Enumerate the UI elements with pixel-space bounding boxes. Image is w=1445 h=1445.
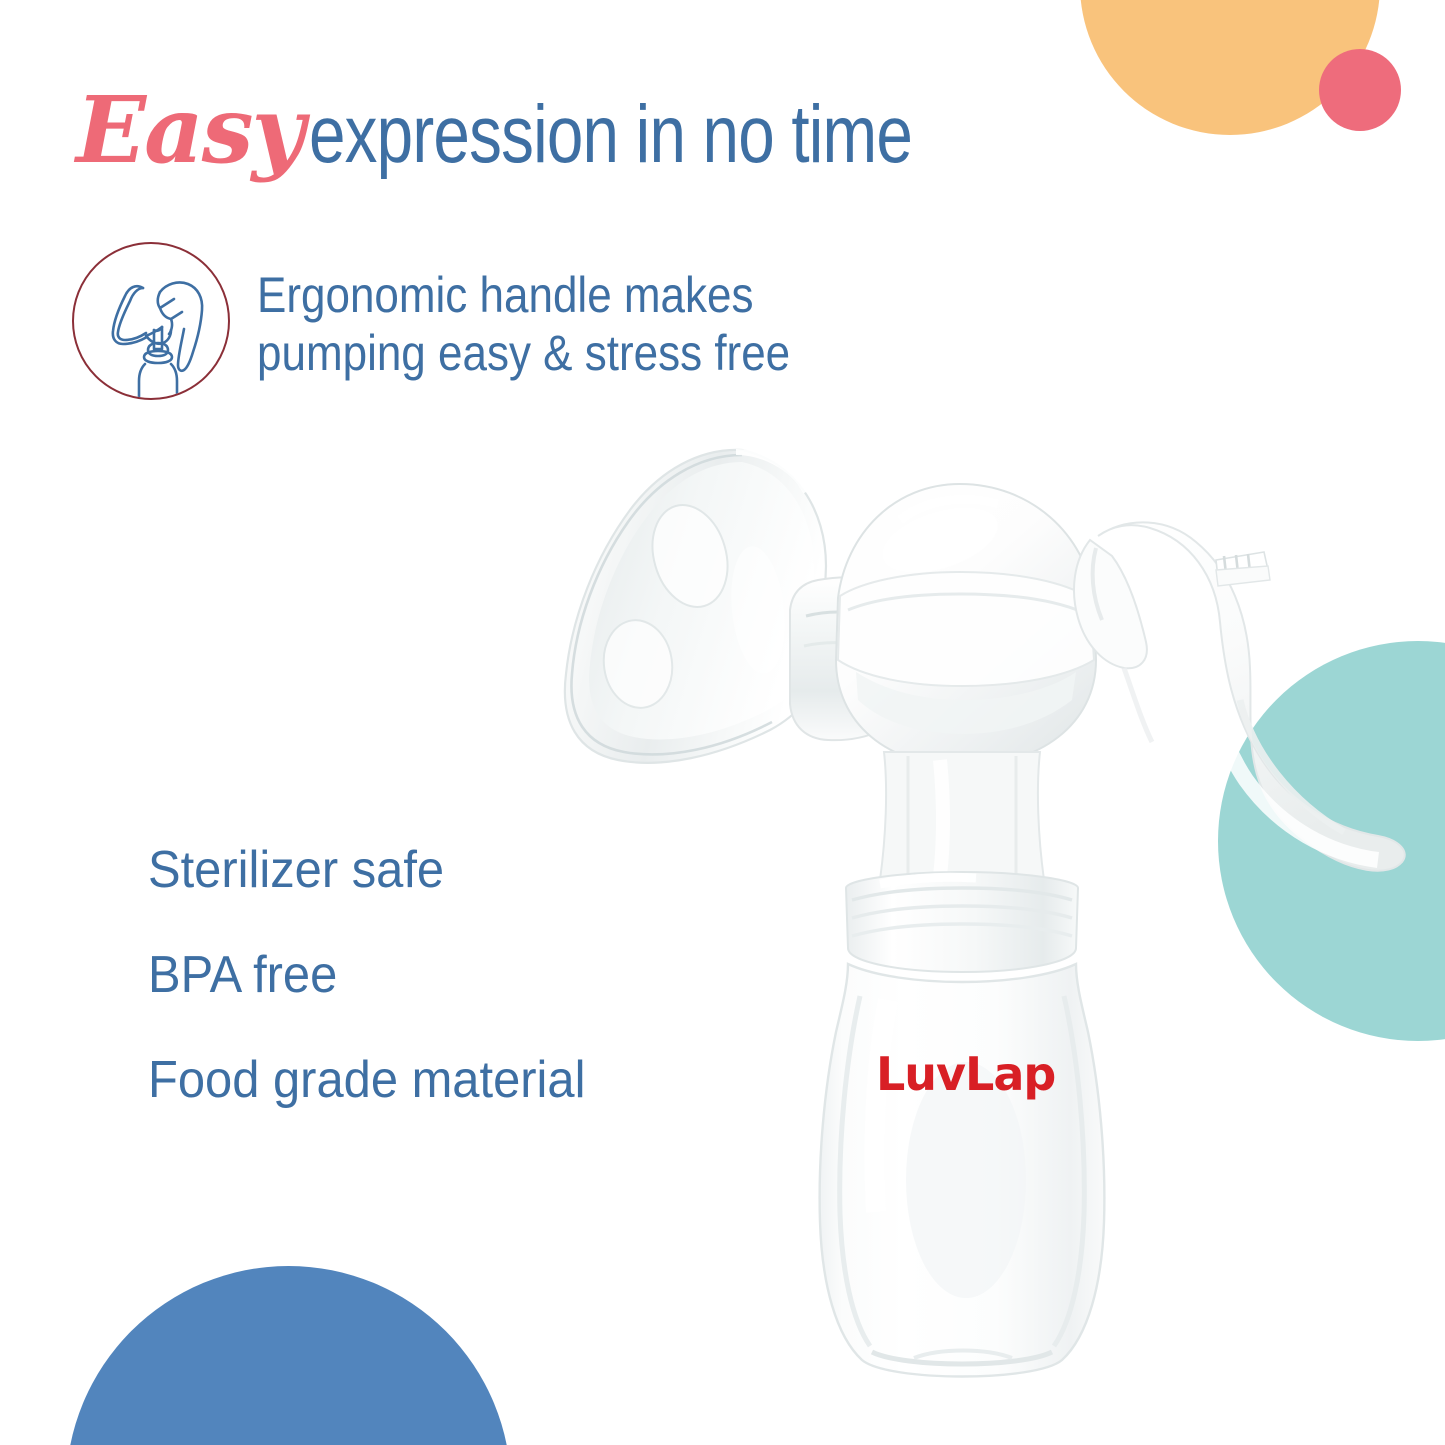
manual-breast-pump-photo: [0, 0, 1445, 1445]
collection-bottle: [820, 964, 1105, 1377]
bottle-collar: [846, 872, 1078, 972]
bottle-brand-logo: LuvLap: [876, 1047, 1055, 1101]
product-feature-banner: Easyexpression in no time: [0, 0, 1445, 1445]
pump-stem: [880, 752, 1044, 880]
pump-body: [836, 484, 1096, 766]
suction-adjust-tab: [1216, 552, 1270, 586]
pump-funnel: [565, 450, 826, 763]
